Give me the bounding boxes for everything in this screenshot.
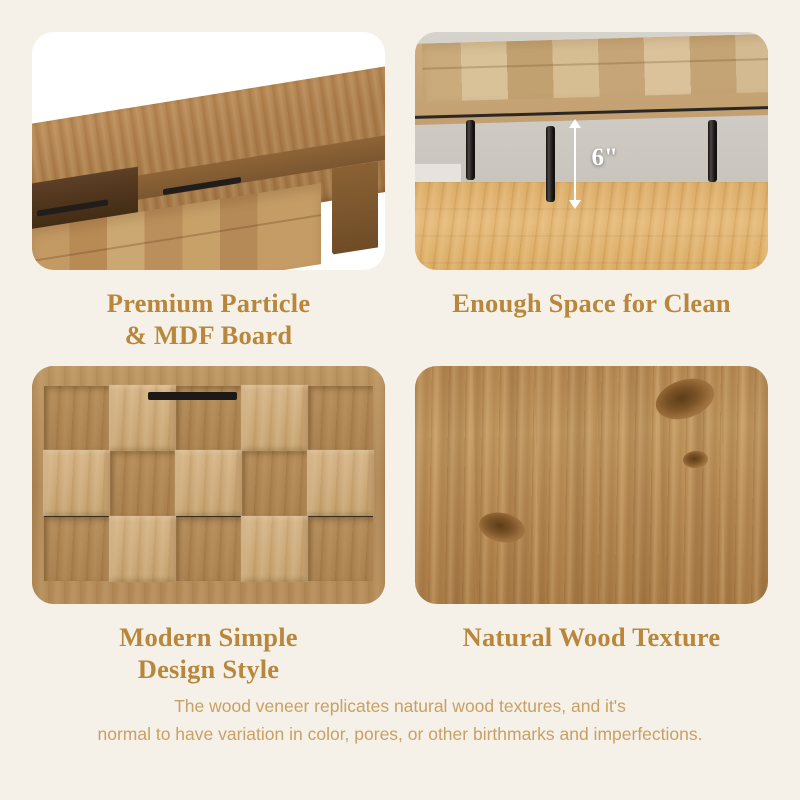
feature-card-natural-texture: Natural Wood Texture [415,366,768,686]
veneer-tile [44,517,109,581]
checkerboard-veneer-grid [44,386,372,581]
veneer-tile [44,386,109,450]
veneer-tile [241,516,308,583]
wood-knot [651,372,720,427]
veneer-tile [308,517,373,581]
photo-premium-board [32,32,385,270]
photo-enough-space: 6" [415,32,768,270]
veneer-tile [109,516,176,583]
cabinet-leg-center [546,126,555,202]
veneer-tile [242,451,307,515]
feature-card-enough-space: 6" Enough Space for Clean [415,32,768,352]
cabinet-leg-right [708,120,717,182]
cabinet-leg-left [466,120,475,180]
feature-caption-modern-design: Modern Simple Design Style [119,621,298,686]
photo-natural-texture [415,366,768,604]
veneer-tile [175,450,242,517]
feature-card-grid: Premium Particle & MDF Board 6" Enough S… [0,0,800,685]
wood-knot [476,509,527,546]
veneer-tile [176,517,241,581]
feature-caption-premium-board: Premium Particle & MDF Board [107,287,311,352]
veneer-tile [307,450,374,517]
dimension-arrow-icon [574,127,576,201]
veneer-tile [241,385,308,452]
wood-knot [683,450,709,469]
drawer-handle-bar [148,392,236,400]
veneer-tile [110,451,175,515]
photo-modern-design [32,366,385,604]
hardwood-floor [415,182,768,270]
wall-baseboard [415,163,461,182]
veneer-tile [308,386,373,450]
feature-caption-natural-texture: Natural Wood Texture [463,621,721,653]
dimension-label: 6" [592,144,618,172]
veneer-tile [43,450,110,517]
cabinet-checkerboard-face [422,34,768,102]
veneer-disclaimer-text: The wood veneer replicates natural wood … [0,692,800,749]
cabinet-side-panel [332,162,378,255]
feature-card-premium-board: Premium Particle & MDF Board [32,32,385,352]
feature-caption-enough-space: Enough Space for Clean [452,287,731,319]
feature-card-modern-design: Modern Simple Design Style [32,366,385,686]
product-feature-infographic: Premium Particle & MDF Board 6" Enough S… [0,0,800,800]
